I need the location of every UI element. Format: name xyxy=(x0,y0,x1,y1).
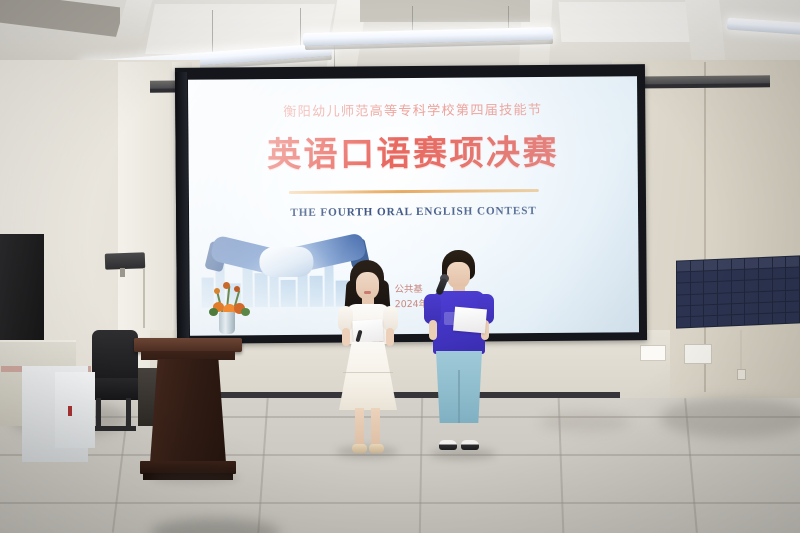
sandal-left xyxy=(352,444,367,453)
wall-notice-grid xyxy=(676,255,800,328)
wall-sign xyxy=(684,344,712,364)
presenter-female xyxy=(333,258,403,458)
wall-cable-run xyxy=(143,268,145,328)
slide-main-title: 英语口语赛项决赛 xyxy=(188,124,637,177)
right-wall-seam xyxy=(704,62,706,392)
wall-label-card xyxy=(640,345,666,361)
script-paper xyxy=(453,307,487,334)
flower-vase xyxy=(219,312,235,334)
wall-conduit xyxy=(740,330,742,370)
sandal-right xyxy=(369,444,384,453)
face xyxy=(356,272,379,300)
slide-subtitle: 衡阳幼儿师范高等专科学校第四届技能节 xyxy=(188,98,637,121)
mouth xyxy=(364,291,371,294)
leg-left xyxy=(355,408,364,446)
lectern-top-edge xyxy=(141,351,235,360)
ceiling-shadow xyxy=(0,0,120,37)
sneaker-right xyxy=(461,440,479,450)
light-hanger-wire xyxy=(412,6,413,30)
slide-divider xyxy=(288,189,538,194)
slide-english-subtitle: THE FOURTH ORAL ENGLISH CONTEST xyxy=(189,204,638,220)
trouser-seam xyxy=(458,370,460,423)
lectern-shadow xyxy=(150,472,240,484)
projection-screen-frame-side xyxy=(175,72,189,340)
chair-backrest xyxy=(92,330,138,382)
projection-screen[interactable]: 衡阳幼儿师范高等专科学校第四届技能节 英语口语赛项决赛 THE FOURTH O… xyxy=(188,76,639,336)
wooden-lectern[interactable] xyxy=(134,338,242,480)
presenter-male xyxy=(428,250,498,460)
wall-outlet xyxy=(737,369,746,380)
leg-right xyxy=(371,408,380,446)
sneaker-left xyxy=(439,440,457,450)
wall-speaker-bracket xyxy=(120,268,125,277)
face xyxy=(447,262,470,289)
forearm-left xyxy=(429,320,437,340)
light-hanger-wire xyxy=(212,10,213,54)
wall-speaker xyxy=(105,252,146,269)
dress-seam xyxy=(343,372,393,373)
forearm-right xyxy=(386,328,394,346)
lectern-top xyxy=(134,338,242,352)
forearm-left xyxy=(342,328,350,346)
speaker-cabinet xyxy=(0,234,44,344)
ceiling-panel xyxy=(559,2,692,42)
lectern-body xyxy=(150,359,226,463)
dress-skirt xyxy=(339,342,397,410)
ceiling-recess xyxy=(360,0,530,22)
console-indicator xyxy=(68,406,72,416)
photo-scene: 衡阳幼儿师范高等专科学校第四届技能节 英语口语赛项决赛 THE FOURTH O… xyxy=(0,0,800,533)
console-side-panel xyxy=(55,372,95,448)
